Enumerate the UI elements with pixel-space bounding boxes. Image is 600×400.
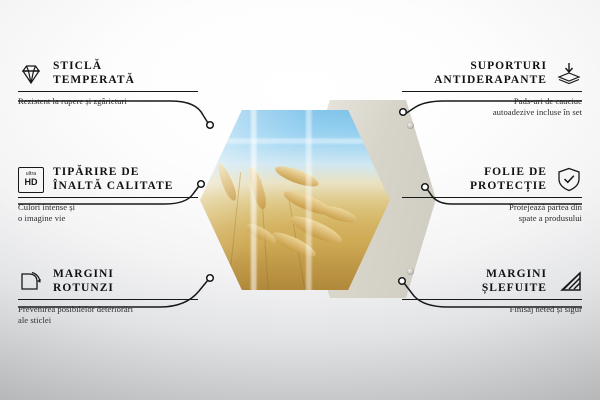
feature-subtitle-line1: Finisaj neted și sigur (510, 304, 582, 314)
ultra-hd-label-bottom: HD (25, 178, 38, 187)
feature-subtitle-line1: Pads-uri de cauciuc (514, 96, 582, 106)
feature-title-line2: ROTUNZI (53, 282, 114, 294)
feature-tiparire-inalta-calitate: ultra HD TIPĂRIRE DE ÎNALTĂ CALITATE Cul… (18, 166, 198, 224)
feature-title-line2: ȘLEFUITE (482, 282, 547, 294)
feature-folie-de-protectie: FOLIE DE PROTECȚIE Protejează partea din… (402, 166, 582, 224)
feature-title-line1: SUPORTURI (470, 60, 547, 72)
shield-check-icon (556, 167, 582, 193)
feature-title-line2: TEMPERATĂ (53, 74, 135, 86)
feature-title-line1: MARGINI (486, 268, 547, 280)
feature-subtitle-line2: ale sticlei (18, 315, 51, 325)
feature-title-line2: PROTECȚIE (470, 180, 547, 192)
press-pad-icon (556, 61, 582, 87)
feature-subtitle-line2: spate a produsului (519, 213, 582, 223)
feature-sticla-temperata: STICLĂ TEMPERATĂ Rezistent la rupere și … (18, 60, 198, 107)
polished-edge-icon (556, 269, 582, 295)
feature-title-line1: STICLĂ (53, 60, 102, 72)
feature-title-line2: ÎNALTĂ CALITATE (53, 180, 173, 192)
feature-title-line1: MARGINI (53, 268, 114, 280)
pad-top-right (407, 122, 414, 129)
feature-subtitle-line1: Culori intense și (18, 202, 75, 212)
feature-subtitle-line2: o imagine vie (18, 213, 65, 223)
feature-subtitle-line1: Rezistent la rupere și zgârieturi (18, 96, 127, 106)
diamond-icon (18, 61, 44, 87)
feature-title-line2: ANTIDERAPANTE (434, 74, 547, 86)
infographic-canvas: STICLĂ TEMPERATĂ Rezistent la rupere și … (0, 0, 600, 400)
feature-margini-slefuite: MARGINI ȘLEFUITE Finisaj neted și sigur (402, 268, 582, 315)
rounded-corner-icon (18, 269, 44, 295)
feature-title-line1: FOLIE DE (484, 166, 547, 178)
feature-subtitle-line1: Prevenirea posibilelor deteriorări (18, 304, 133, 314)
ultra-hd-icon: ultra HD (18, 167, 44, 193)
product-group (196, 96, 436, 304)
feature-subtitle-line1: Protejează partea din (509, 202, 582, 212)
feature-title-line1: TIPĂRIRE DE (53, 166, 139, 178)
feature-margini-rotunzi: MARGINI ROTUNZI Prevenirea posibilelor d… (18, 268, 198, 326)
feature-subtitle-line2: autoadezive incluse în set (493, 107, 582, 117)
feature-suporturi-antiderapante: SUPORTURI ANTIDERAPANTE Pads-uri de cauc… (402, 60, 582, 118)
